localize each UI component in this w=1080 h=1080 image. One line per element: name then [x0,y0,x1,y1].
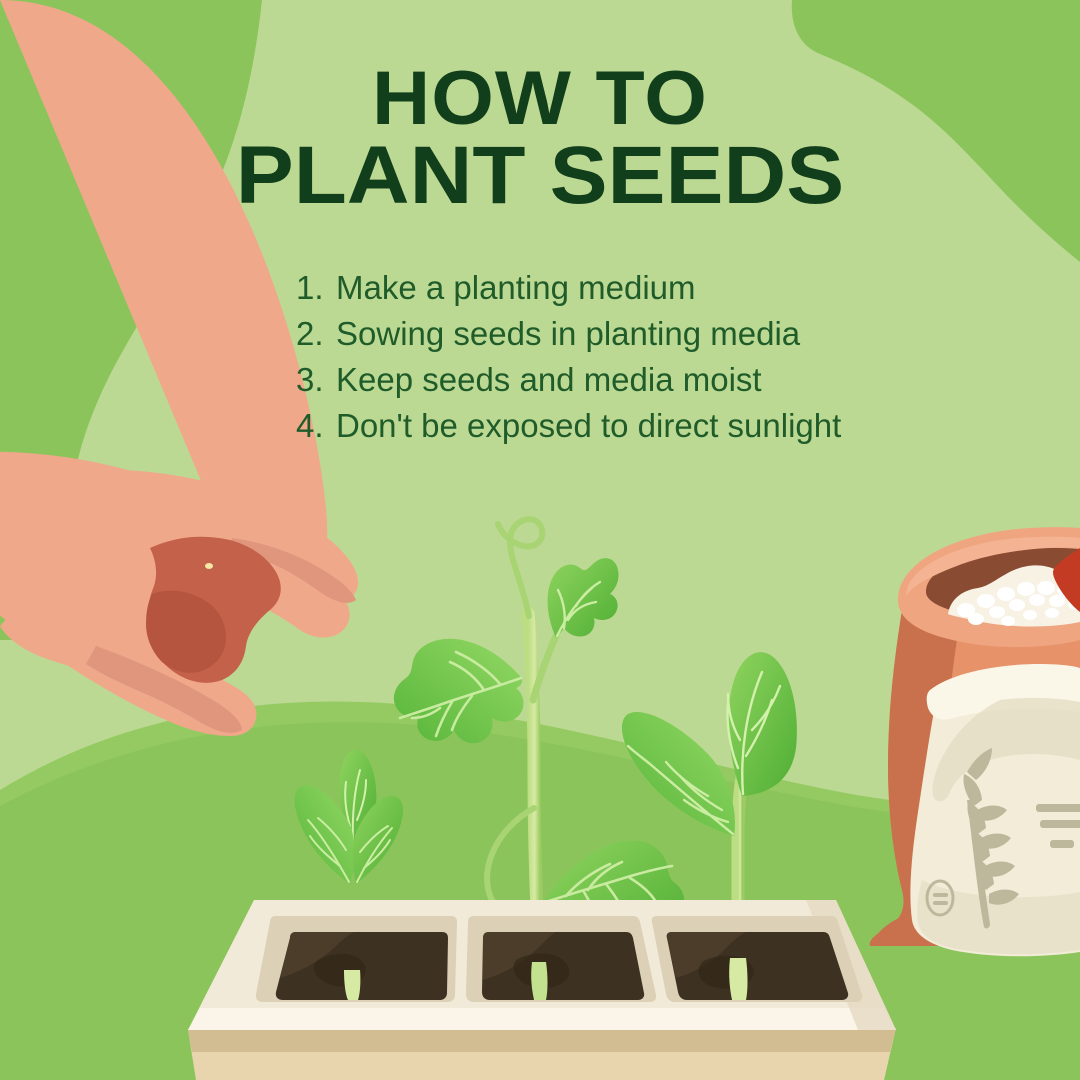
title-line-2: PLANT SEEDS [0,136,1080,216]
list-item: 2. Sowing seeds in planting media [296,311,996,357]
list-item: 1. Make a planting medium [296,265,996,311]
step-text: Make a planting medium [336,265,996,311]
step-text: Don't be exposed to direct sunlight [336,403,996,449]
tray-cell-3 [652,916,862,1002]
tray-cell-2 [466,916,656,1002]
right-stem-base [729,958,747,1000]
center-stem-base [531,962,547,1000]
list-item: 4. Don't be exposed to direct sunlight [296,403,996,449]
list-item: 3. Keep seeds and media moist [296,357,996,403]
steps-list: 1. Make a planting medium 2. Sowing seed… [296,265,996,449]
seed-tray [188,900,896,1080]
step-text: Sowing seeds in planting media [336,311,996,357]
tray-wood-shadow [188,1028,896,1052]
step-text: Keep seeds and media moist [336,357,996,403]
infographic-poster: HOW TO PLANT SEEDS 1. Make a planting me… [0,0,1080,1080]
left-stem-base [344,970,360,1000]
title-line-1: HOW TO [0,62,1080,136]
step-number: 2. [296,311,336,357]
step-number: 4. [296,403,336,449]
page-title: HOW TO PLANT SEEDS [0,0,1080,217]
step-number: 1. [296,265,336,311]
tray-front-lip [188,1008,896,1030]
step-number: 3. [296,357,336,403]
text-content: HOW TO PLANT SEEDS 1. Make a planting me… [0,0,1080,217]
